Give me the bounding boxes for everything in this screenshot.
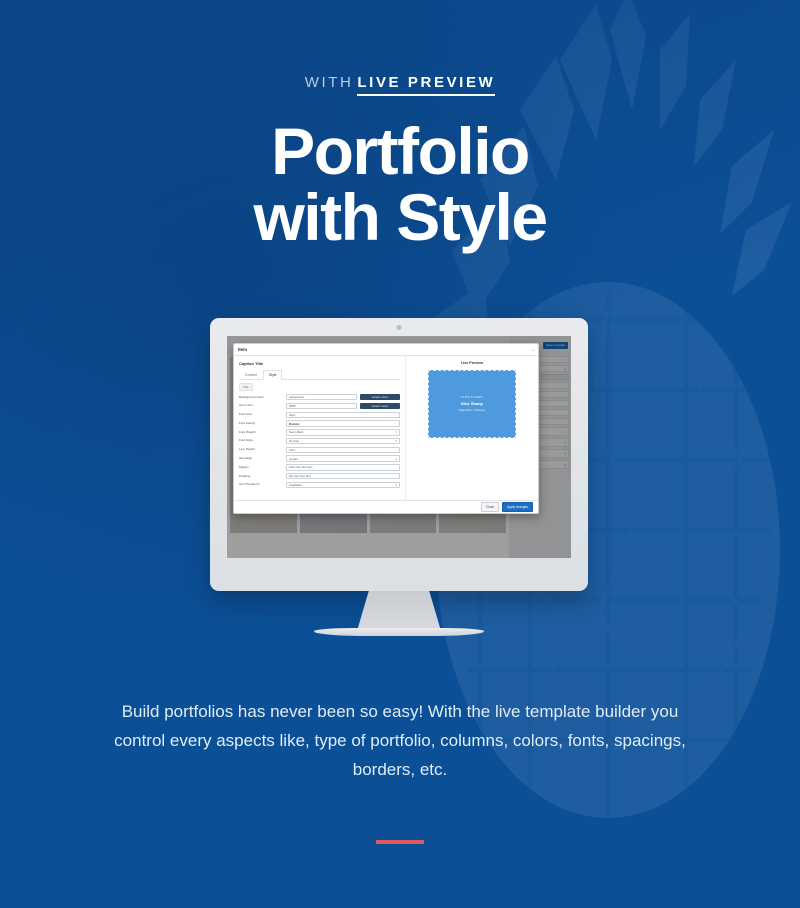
page-title-line-2: with Style	[0, 184, 800, 250]
close-icon[interactable]: ×	[532, 347, 534, 352]
portfolio-builder-app: Preset Save template Limit ▾ Order ▾	[227, 336, 571, 558]
monitor-stand-base	[314, 628, 484, 636]
tab-content[interactable]: Content	[239, 370, 263, 379]
monitor-body: Preset Save template Limit ▾ Order ▾	[210, 318, 588, 591]
live-preview-edit-hint: CLICK TO EDIT	[461, 396, 483, 399]
field-background-color: Background Color transparent select colo…	[239, 394, 400, 400]
field-text-transform-label: Text Transform	[239, 483, 283, 486]
field-padding: Padding 0px 0px 0px 0px	[239, 473, 400, 479]
background-color-picker-button[interactable]: select color	[360, 394, 400, 400]
modal-body: Caption Title Content Style Title Backgr…	[234, 356, 538, 500]
field-line-height-label: Line Height	[239, 448, 283, 451]
field-line-height-input[interactable]: 27px	[286, 447, 400, 453]
hero-eyebrow-strong: LIVE PREVIEW	[357, 74, 495, 96]
page-title: Portfolio with Style	[0, 118, 800, 250]
monitor-screen: Preset Save template Limit ▾ Order ▾	[227, 336, 571, 558]
style-form-panel: Caption Title Content Style Title Backgr…	[234, 356, 406, 500]
field-margin-input[interactable]: 10px 0px 0px 0px	[286, 464, 400, 470]
modal-footer: Close Apply changes	[234, 500, 538, 513]
field-padding-input[interactable]: 0px 0px 0px 0px	[286, 473, 400, 479]
field-font-family-value: Roboto	[289, 422, 300, 426]
field-font-family-input[interactable]: Roboto	[286, 420, 400, 426]
field-font-style: Font Style Normal	[239, 438, 400, 444]
hero-eyebrow-light: WITH	[305, 74, 354, 91]
live-preview-card[interactable]: CLICK TO EDIT Blue Stamp Pagination / In…	[428, 370, 516, 438]
field-text-color-label: Text Color	[239, 404, 283, 407]
monitor-mockup: Preset Save template Limit ▾ Order ▾	[210, 318, 588, 638]
hero-description: Build portfolios has never been so easy!…	[100, 697, 700, 784]
webcam-icon	[397, 325, 402, 330]
field-background-color-label: Background Color	[239, 396, 283, 399]
live-preview-card-title: Blue Stamp	[461, 401, 483, 406]
modal-title: Item	[238, 347, 247, 352]
close-button[interactable]: Close	[481, 502, 499, 512]
field-margin-label: Margin	[239, 466, 283, 469]
field-text-transform-select[interactable]: Capitalize	[286, 482, 400, 488]
monitor-stand-neck	[357, 591, 441, 631]
field-text-color-input[interactable]: #ffffff	[286, 403, 357, 409]
field-font-family-label: Font Family	[239, 422, 283, 425]
field-font-weight: Font Weight Semi-Bold	[239, 429, 400, 435]
field-font-family: Font Family Roboto	[239, 420, 400, 426]
field-line-height: Line Height 27px	[239, 447, 400, 453]
apply-changes-button[interactable]: Apply changes	[502, 502, 533, 512]
page-title-line-1: Portfolio	[271, 114, 529, 188]
tab-style[interactable]: Style	[263, 370, 283, 380]
field-font-style-label: Font Style	[239, 439, 283, 442]
field-text-align-select[interactable]: Center	[286, 455, 400, 461]
live-preview-panel: Live Preview CLICK TO EDIT Blue Stamp Pa…	[406, 356, 538, 500]
field-margin: Margin 10px 0px 0px 0px	[239, 464, 400, 470]
text-color-picker-button[interactable]: select color	[360, 403, 400, 409]
field-text-color: Text Color #ffffff select color	[239, 403, 400, 409]
accent-divider	[376, 840, 424, 844]
modal-header: Item ×	[234, 344, 538, 356]
field-font-size-label: Font Size	[239, 413, 283, 416]
live-preview-heading: Live Preview	[411, 361, 533, 365]
live-preview-card-subtitle: Pagination / InDesign	[459, 408, 486, 412]
field-font-weight-select[interactable]: Semi-Bold	[286, 429, 400, 435]
modal-tabs: Content Style	[239, 370, 400, 380]
field-text-align: Text Align Center	[239, 455, 400, 461]
field-font-size-input[interactable]: 20px	[286, 412, 400, 418]
field-font-weight-label: Font Weight	[239, 431, 283, 434]
field-background-color-input[interactable]: transparent	[286, 394, 357, 400]
panel-title: Caption Title	[239, 361, 400, 366]
field-text-align-label: Text Align	[239, 457, 283, 460]
item-settings-modal: Item × Caption Title Content Style Title	[233, 343, 539, 514]
hero-eyebrow: WITHLIVE PREVIEW	[0, 74, 800, 91]
field-text-transform: Text Transform Capitalize	[239, 482, 400, 488]
subtab-title[interactable]: Title	[239, 383, 253, 391]
field-font-size: Font Size 20px	[239, 412, 400, 418]
field-padding-label: Padding	[239, 475, 283, 478]
field-font-style-select[interactable]: Normal	[286, 438, 400, 444]
